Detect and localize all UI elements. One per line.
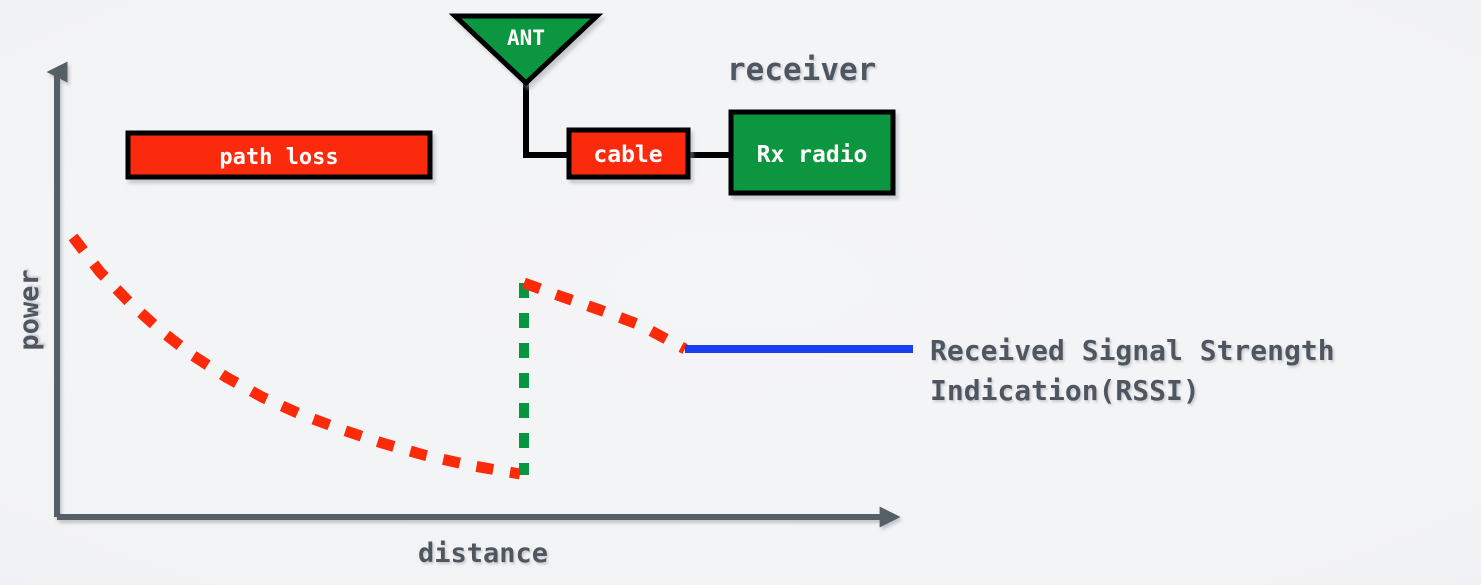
cable-block[interactable]: cable bbox=[569, 130, 688, 177]
path-loss-block[interactable]: path loss bbox=[128, 133, 430, 177]
y-axis-label: power bbox=[14, 269, 45, 350]
series-path-loss-decay bbox=[73, 237, 520, 474]
chart-series-group bbox=[73, 237, 913, 475]
cable-label: cable bbox=[593, 142, 662, 168]
antenna-block[interactable]: ANT bbox=[455, 16, 597, 83]
connector-antenna-to-cable bbox=[526, 82, 569, 155]
rx-radio-block[interactable]: Rx radio bbox=[731, 112, 893, 193]
rssi-diagram: power distance Received Signal Strength … bbox=[0, 0, 1481, 585]
receiver-label: receiver bbox=[727, 52, 876, 88]
path-loss-label: path loss bbox=[219, 145, 338, 170]
legend-rssi-line2: Indication(RSSI) bbox=[930, 374, 1200, 407]
legend-rssi-line1: Received Signal Strength bbox=[930, 334, 1335, 367]
diagram-canvas: power distance Received Signal Strength … bbox=[0, 0, 1481, 585]
series-post-antenna-decay bbox=[524, 283, 685, 349]
x-axis-label: distance bbox=[418, 538, 548, 569]
antenna-label: ANT bbox=[507, 26, 545, 50]
rx-radio-label: Rx radio bbox=[757, 142, 868, 168]
